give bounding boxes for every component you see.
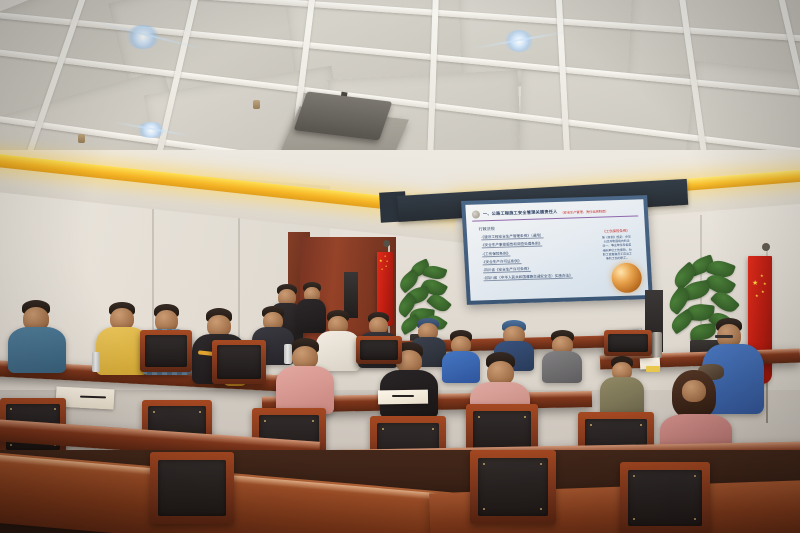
sticky-note [646,366,660,372]
slide-side-line: 事的工伤的职工。 [595,256,639,262]
sprinkler-head [78,134,85,143]
pen[interactable] [392,395,414,397]
slide-bullet-icon [472,210,480,218]
slide-bullet-list: ·《建设工程安全生产管理条例》（通用） ·《安全生产事故报告和调查处理条例》 ·… [481,232,589,285]
chair[interactable] [620,462,710,533]
papers-stack[interactable] [378,390,428,405]
slide-bullet: ·《安全生产事故报告和调查处理条例》 [482,240,587,248]
slide-bullet: ·四川省《安全生产许可条例》 [483,265,588,273]
chair[interactable] [604,330,652,356]
slide-title-note: （安全生产管理、责任追溯制度） [560,208,608,214]
water-bottle[interactable] [92,352,100,372]
attendee-blue-tshirt [8,300,68,370]
slide-title: 一、公路工程施工安全管理关键责任人 [483,209,558,217]
chair[interactable] [150,452,234,533]
slide-bullet: ·《工伤保险条例》 [482,249,587,257]
slide-content: 一、公路工程施工安全管理关键责任人 （安全生产管理、责任追溯制度） 行政法规 ·… [465,199,648,300]
glasses-icon [715,335,733,338]
water-bottle[interactable] [284,344,292,364]
screen-frame: 一、公路工程施工安全管理关键责任人 （安全生产管理、责任追溯制度） 行政法规 ·… [461,195,653,305]
attendee-olive-shirt [600,356,646,414]
chair[interactable] [140,330,192,372]
conference-room-photo: 一、公路工程施工安全管理关键责任人 （安全生产管理、责任追溯制度） 行政法规 ·… [0,0,800,533]
sprinkler-head [253,100,260,109]
slide-bullet: ·《建设工程安全生产管理条例》（通用） [481,232,586,240]
slide-bullet: ·《四川省〈中华人民共和国道路交通安全法〉实施办法》 [483,274,588,282]
attendee-grey-shirt [540,330,584,376]
globe-icon [611,262,643,293]
chair[interactable] [212,340,266,384]
chair[interactable] [356,336,402,364]
projection-screen[interactable]: 一、公路工程施工安全管理关键责任人 （安全生产管理、责任追溯制度） 行政法规 ·… [461,195,653,305]
thermos-flask[interactable] [652,332,662,358]
flag-finial [762,243,770,251]
slide-section-label: 行政法规 [479,226,495,232]
slide-side-note: 《工伤保险条例》 第《条例》规定：中华 人民共和国境内的企 业一、事业单位及各类… [594,227,640,261]
slide-bullet: ·《安全生产许可证条例》 [482,257,587,265]
slide-side-heading: 《工伤保险条例》 [594,227,638,233]
flag-finial [383,240,390,247]
chair[interactable] [470,450,556,533]
